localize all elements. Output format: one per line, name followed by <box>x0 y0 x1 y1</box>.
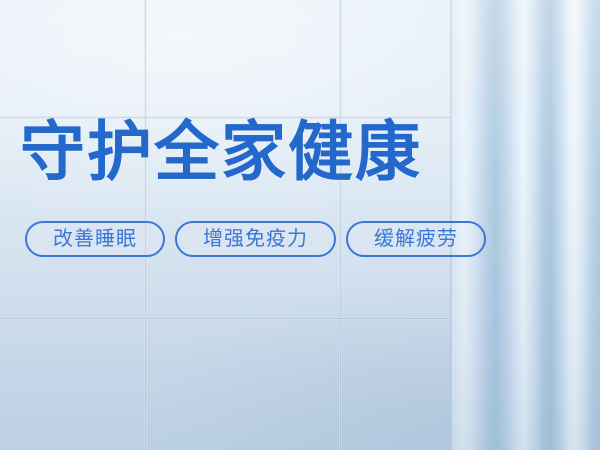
benefit-pill-improve-sleep[interactable]: 改善睡眠 <box>25 221 165 257</box>
benefit-pill-boost-immunity[interactable]: 增强免疫力 <box>175 221 336 257</box>
benefit-pill-list: 改善睡眠 增强免疫力 缓解疲劳 <box>25 221 486 257</box>
benefit-pill-relieve-fatigue[interactable]: 缓解疲劳 <box>346 221 486 257</box>
page-title: 守护全家健康 <box>20 117 422 187</box>
promo-banner: 守护全家健康 改善睡眠 增强免疫力 缓解疲劳 <box>0 0 600 450</box>
